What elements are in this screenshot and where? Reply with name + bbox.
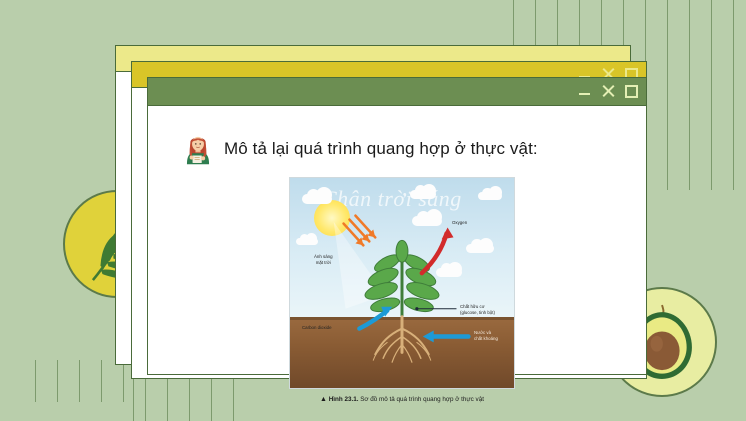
figure-block: Chân trời sáng [289,177,515,403]
photosynthesis-diagram: Chân trời sáng [289,177,515,389]
label-sunlight: Ánh sáng mặt trời [314,254,333,266]
label-carbon-dioxide-line1: Carbon dioxide [302,325,332,330]
window-front[interactable]: Mô tả lại quá trình quang hợp ở thực vật… [147,77,647,375]
label-organic-matter-line2: (glucose, tinh bột) [460,310,495,315]
label-sunlight-line1: Ánh sáng [314,254,333,259]
teacher-avatar-icon [181,132,215,166]
window-front-titlebar[interactable] [148,78,646,106]
label-water-minerals-line1: Nước và [474,330,491,335]
prompt-row: Mô tả lại quá trình quang hợp ở thực vật… [181,132,538,166]
close-icon[interactable] [601,85,614,98]
minimize-icon[interactable] [579,86,590,97]
maximize-icon[interactable] [625,85,638,98]
label-carbon-dioxide: Carbon dioxide [302,325,332,331]
label-organic-matter-line1: Chất hữu cơ [460,304,485,309]
label-sunlight-line2: mặt trời [316,260,331,265]
figure-caption: ▲ Hình 23.1. Sơ đồ mô tả quá trình quang… [289,396,515,403]
slide-canvas: Mô tả lại quá trình quang hợp ở thực vật… [0,0,746,421]
label-water-minerals-line2: chất khoáng [474,336,498,341]
caption-marker-icon: ▲ [320,396,327,403]
caption-text: Sơ đồ mô tả quá trình quang hợp ở thực v… [360,396,484,403]
prompt-text: Mô tả lại quá trình quang hợp ở thực vật… [224,139,538,159]
label-organic-matter: Chất hữu cơ (glucose, tinh bột) [460,304,495,316]
label-oxygen-line1: Oxygen [452,220,467,225]
caption-number: Hình 23.1. [329,396,359,403]
slide-content: Mô tả lại quá trình quang hợp ở thực vật… [148,106,646,374]
label-oxygen: Oxygen [452,220,467,226]
diagram-vectors [290,178,514,388]
label-water-minerals: Nước và chất khoáng [474,330,498,342]
